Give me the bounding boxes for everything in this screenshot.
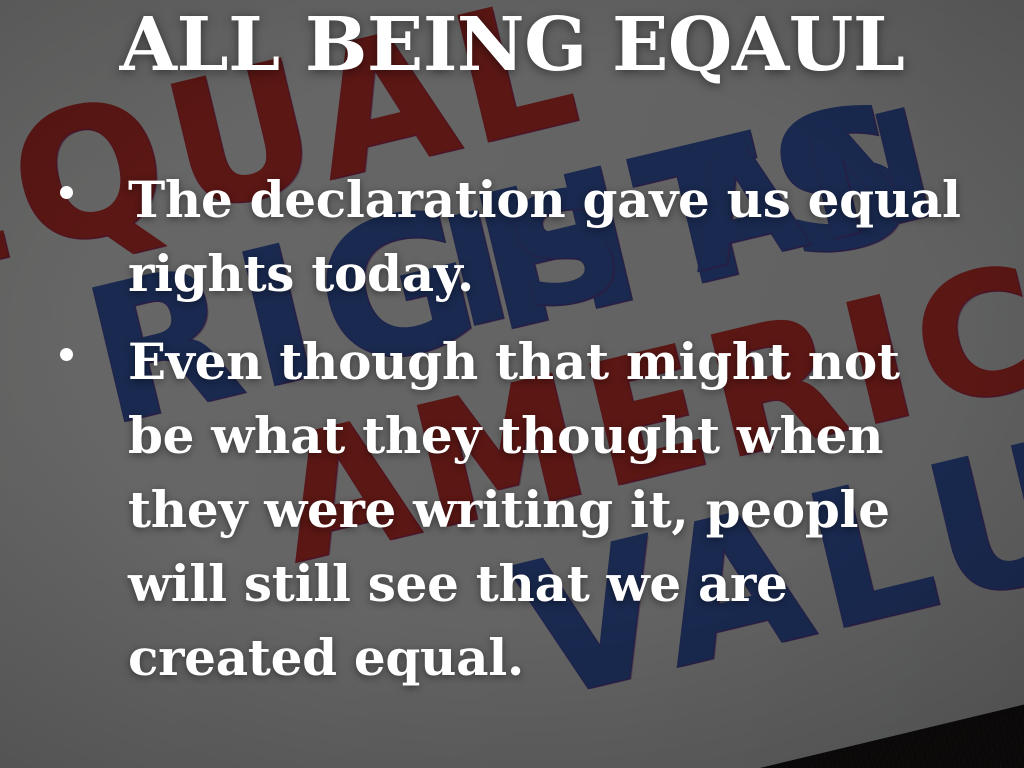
bullet-dot-icon	[60, 348, 73, 361]
bullet-dot-icon	[60, 186, 73, 199]
presentation-slide: EQUAL RIGHTS IS AN AMERICAN VALUE ALL BE…	[0, 0, 1024, 768]
list-item: The declaration gave us equal rights tod…	[50, 163, 970, 311]
bullet-list: The declaration gave us equal rights tod…	[50, 163, 970, 709]
slide-title: ALL BEING EQAUL	[0, 8, 1024, 82]
list-item-text: The declaration gave us equal rights tod…	[128, 163, 970, 311]
list-item: Even though that might not be what they …	[50, 325, 970, 695]
slide-content: ALL BEING EQAUL The declaration gave us …	[0, 0, 1024, 768]
list-item-text: Even though that might not be what they …	[128, 325, 970, 695]
